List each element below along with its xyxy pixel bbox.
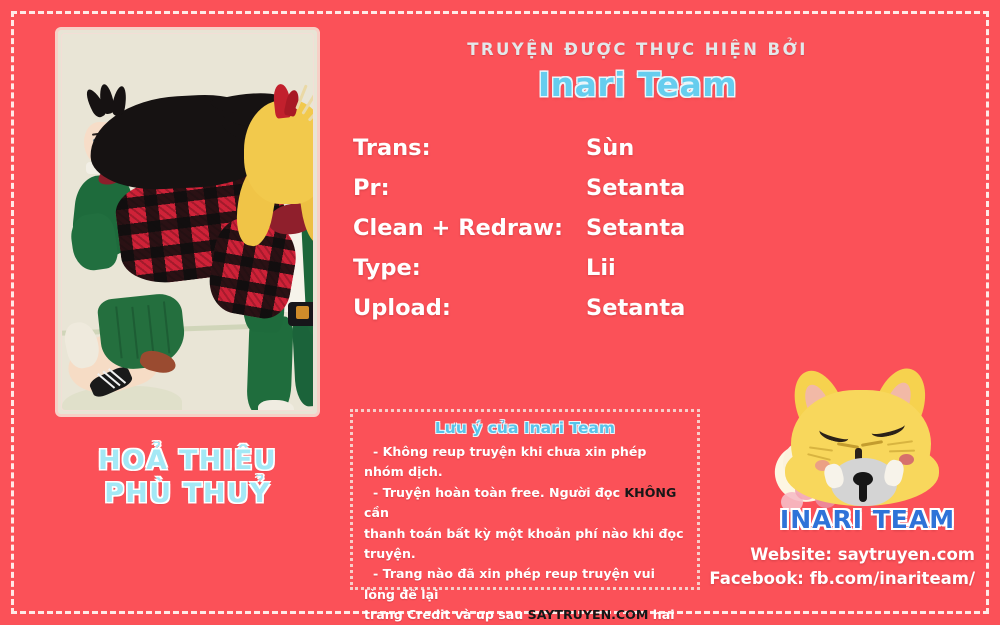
art-right-girl-shoe: [258, 400, 294, 411]
contact-info: Website: saytruyen.com Facebook: fb.com/…: [700, 543, 975, 591]
cover-artwork-frame: [55, 27, 320, 417]
notice-line-3: thanh toán bất kỳ một khoản phí nào khi …: [364, 524, 686, 544]
notice-line-5: - Trang nào đã xin phép reup truyện vui …: [364, 564, 686, 605]
header-subtitle: TRUYỆN ĐƯỢC THỰC HIỆN BỞI: [345, 40, 930, 59]
credit-value: Setanta: [586, 295, 793, 321]
notice-box: Lưu ý của Inari Team - Không reup truyện…: [350, 409, 700, 590]
notice-title: Lưu ý của Inari Team: [364, 419, 686, 437]
manga-title-line-1: HOẢ THIÊU: [55, 444, 320, 477]
facebook-line[interactable]: Facebook: fb.com/inariteam/: [700, 567, 975, 591]
credit-value: Sùn: [586, 135, 793, 161]
notice-emphasis-khong: KHÔNG: [624, 485, 676, 500]
credit-page: HOẢ THIÊU PHÙ THUỶ TRUYỆN ĐƯỢC THỰC HIỆN…: [0, 0, 1000, 625]
credit-value: Setanta: [586, 215, 793, 241]
notice-line-4: truyện.: [364, 544, 686, 564]
notice-emphasis-saytruyen: SAYTRUYEN.COM: [528, 607, 649, 622]
credit-label: Upload:: [353, 295, 586, 321]
credit-value: Lii: [586, 255, 793, 281]
notice-line-2-b: cần: [364, 505, 389, 520]
website-line[interactable]: Website: saytruyen.com: [700, 543, 975, 567]
manga-title-line-2: PHÙ THUỶ: [55, 477, 320, 510]
art-right-girl-buckle: [296, 306, 309, 319]
credit-label: Pr:: [353, 175, 586, 201]
header: TRUYỆN ĐƯỢC THỰC HIỆN BỞI Inari Team: [345, 40, 930, 104]
notice-line-6-a: trang Credit và up sau: [364, 607, 528, 622]
notice-line-2-a: - Truyện hoàn toàn free. Người đọc: [373, 485, 624, 500]
notice-line-2: - Truyện hoàn toàn free. Người đọc KHÔNG…: [364, 483, 686, 524]
team-wordmark: INARI TEAM: [760, 505, 975, 534]
manga-title: HOẢ THIÊU PHÙ THUỶ: [55, 444, 320, 511]
fox-ball-detail-icon: [859, 476, 867, 502]
credit-row: Trans: Sùn: [353, 135, 793, 161]
notice-line-6: trang Credit và up sau SAYTRUYEN.COM hai…: [364, 605, 686, 625]
fox-mascot-icon: [775, 368, 960, 513]
credit-label: Type:: [353, 255, 586, 281]
credit-value: Setanta: [586, 175, 793, 201]
credit-row: Upload: Setanta: [353, 295, 793, 321]
credit-row: Clean + Redraw: Setanta: [353, 215, 793, 241]
credits-list: Trans: Sùn Pr: Setanta Clean + Redraw: S…: [353, 135, 793, 335]
credit-label: Clean + Redraw:: [353, 215, 586, 241]
header-team-name: Inari Team: [345, 65, 930, 104]
credit-label: Trans:: [353, 135, 586, 161]
credit-row: Pr: Setanta: [353, 175, 793, 201]
notice-line-1: - Không reup truyện khi chưa xin phép nh…: [364, 442, 686, 483]
cover-artwork-illustration: [61, 33, 314, 411]
credit-row: Type: Lii: [353, 255, 793, 281]
